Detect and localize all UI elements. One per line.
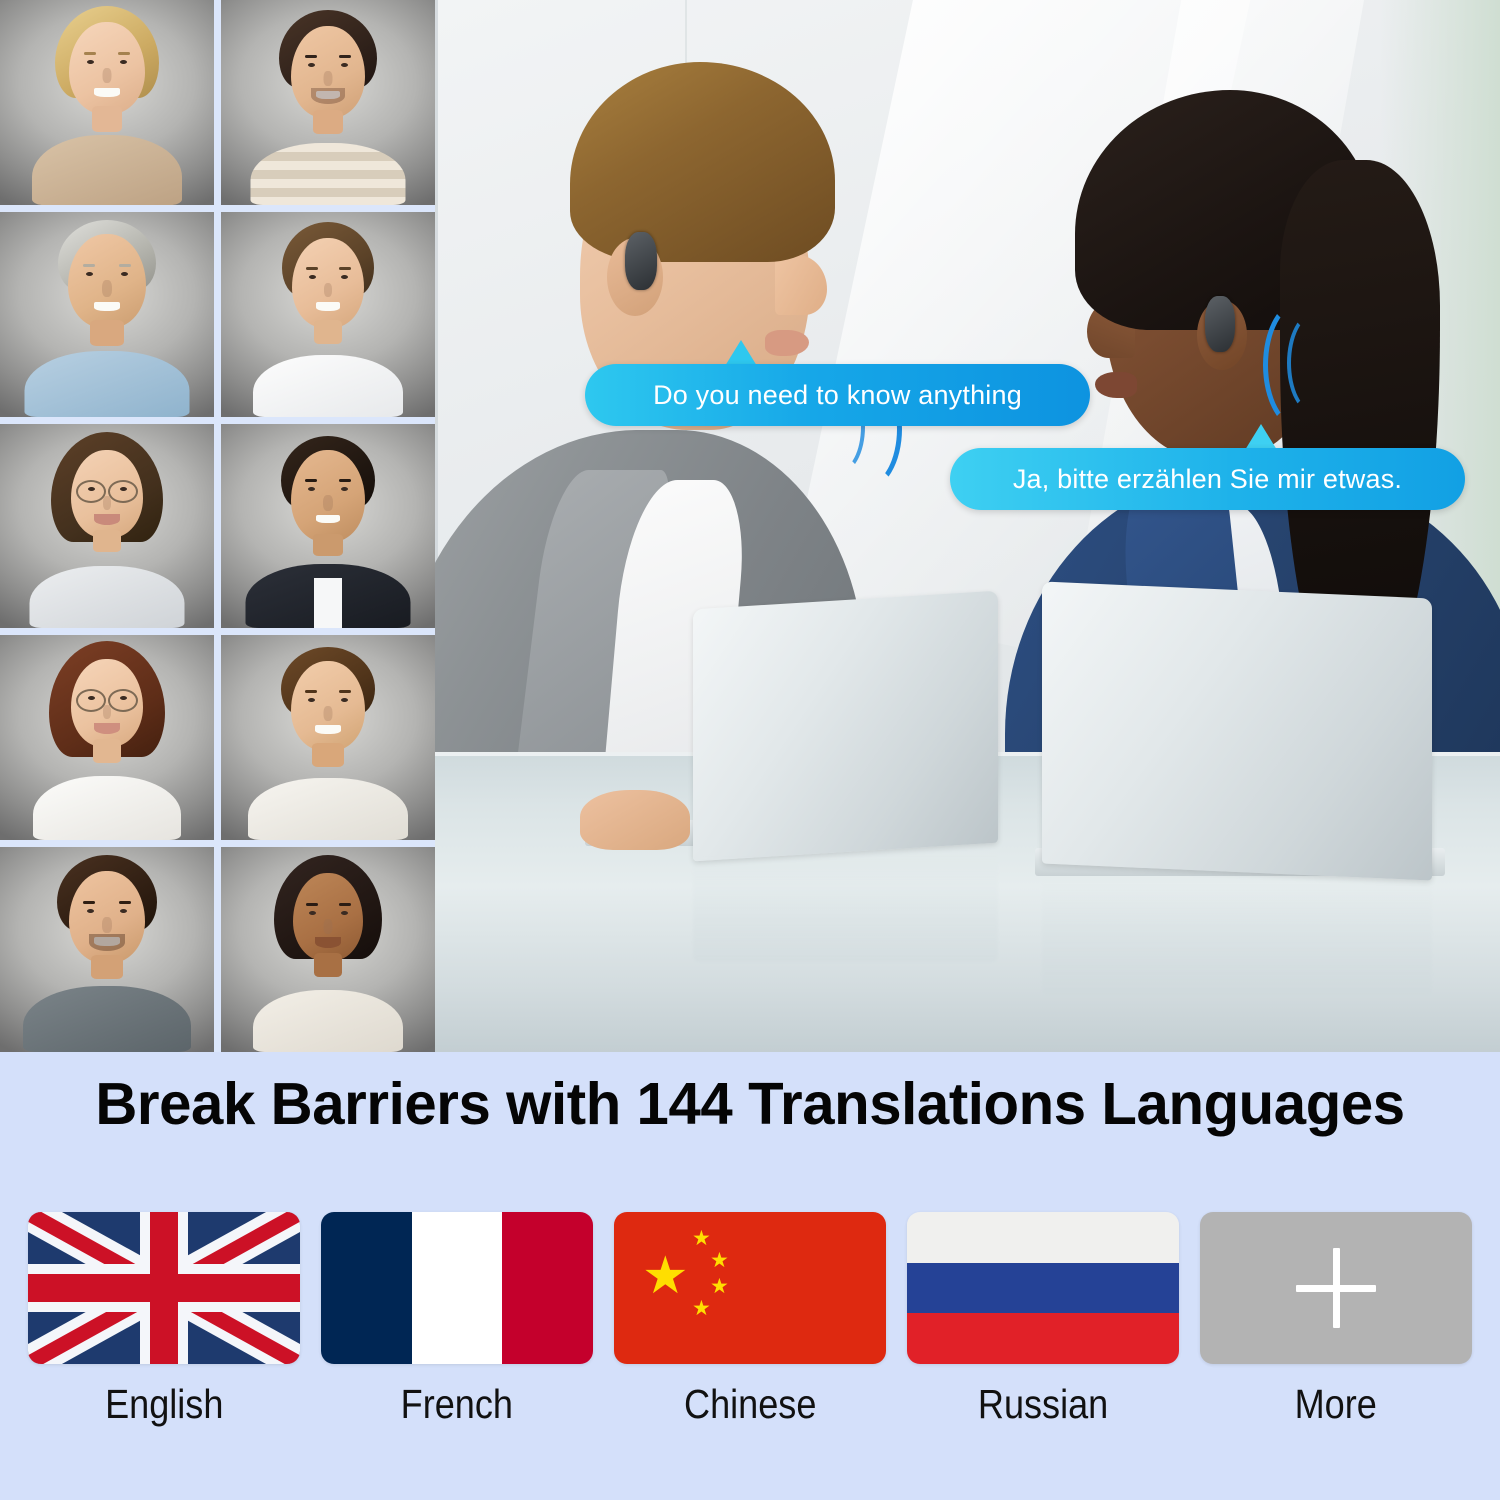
- flag-row: English French ★ ★ ★ ★ ★: [28, 1212, 1472, 1428]
- laptop-reflection: [693, 852, 998, 962]
- plus-icon: [1200, 1212, 1472, 1364]
- translator-earbud-icon: [625, 232, 657, 290]
- man-lips: [765, 330, 809, 356]
- language-option-more[interactable]: More: [1200, 1212, 1472, 1428]
- man-hair: [570, 62, 835, 262]
- language-label: Russian: [978, 1381, 1108, 1428]
- language-label: More: [1295, 1381, 1377, 1428]
- portrait-cell: [0, 847, 214, 1052]
- sound-wave-icon: [1287, 312, 1341, 414]
- language-panel: Break Barriers with 144 Translations Lan…: [0, 1052, 1500, 1500]
- speech-bubble-english: Do you need to know anything: [585, 364, 1090, 426]
- language-option-russian[interactable]: Russian: [907, 1212, 1179, 1428]
- portrait-cell: [221, 212, 435, 417]
- laptop-reflection: [1042, 876, 1432, 996]
- portrait-cell: [0, 635, 214, 840]
- bubble-tail-german: [1245, 424, 1277, 450]
- portrait-grid: [0, 0, 435, 1052]
- portrait-cell: [221, 0, 435, 205]
- speech-bubble-german: Ja, bitte erzählen Sie mir etwas.: [950, 448, 1465, 510]
- page-title: Break Barriers with 144 Translations Lan…: [11, 1070, 1489, 1138]
- translation-conversation-photo: Do you need to know anything Ja, bitte e…: [435, 0, 1500, 1052]
- portrait-cell: [0, 0, 214, 205]
- photo-band: Do you need to know anything Ja, bitte e…: [0, 0, 1500, 1052]
- man-hands: [580, 790, 690, 850]
- china-flag-icon: ★ ★ ★ ★ ★: [614, 1212, 886, 1364]
- portrait-cell: [221, 847, 435, 1052]
- portrait-cell: [0, 212, 214, 417]
- product-infographic: Do you need to know anything Ja, bitte e…: [0, 0, 1500, 1500]
- language-option-english[interactable]: English: [28, 1212, 300, 1428]
- woman-lips: [1095, 372, 1137, 398]
- portrait-cell: [221, 424, 435, 629]
- language-label: French: [401, 1381, 513, 1428]
- france-flag-icon: [321, 1212, 593, 1364]
- language-label: Chinese: [684, 1381, 816, 1428]
- bubble-tail-english: [725, 340, 757, 366]
- language-option-chinese[interactable]: ★ ★ ★ ★ ★ Chinese: [614, 1212, 886, 1428]
- laptop-lid: [1042, 581, 1432, 880]
- uk-flag-icon: [28, 1212, 300, 1364]
- portrait-cell: [0, 424, 214, 629]
- russia-flag-icon: [907, 1212, 1179, 1364]
- language-option-french[interactable]: French: [321, 1212, 593, 1428]
- language-label: English: [105, 1381, 223, 1428]
- man-nose: [775, 255, 827, 315]
- translator-earbud-icon: [1205, 296, 1235, 352]
- laptop-lid: [693, 591, 998, 862]
- portrait-cell: [221, 635, 435, 840]
